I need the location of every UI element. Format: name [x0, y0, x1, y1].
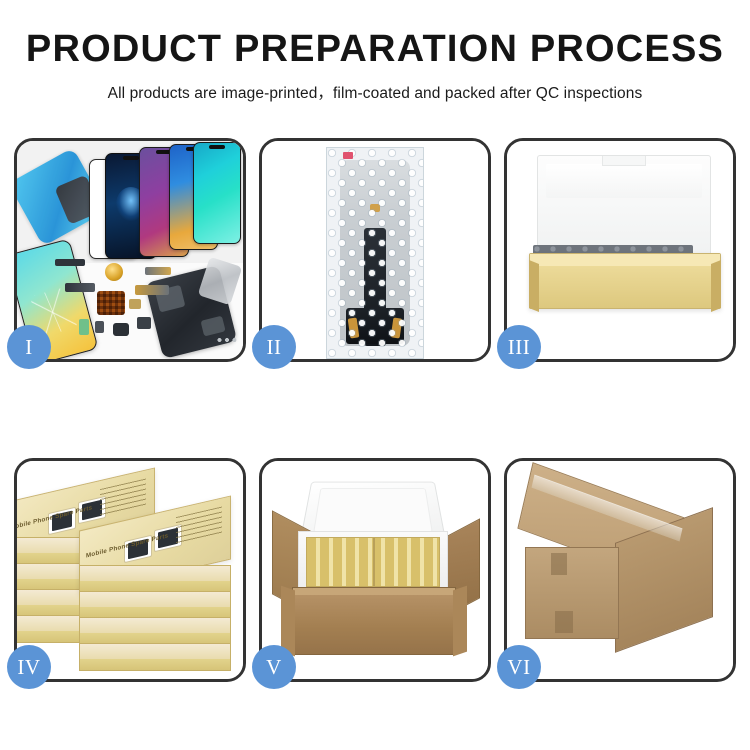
carton-seam — [555, 611, 573, 633]
bubble-wrap-bag — [326, 147, 424, 359]
battery-connector-icon — [79, 319, 89, 335]
step-badge-ii: II — [252, 325, 296, 369]
box-side-right — [711, 260, 721, 312]
step-image-bubble-wrapped-screen — [262, 141, 488, 359]
chip-array-icon — [97, 291, 125, 315]
box-face — [80, 618, 230, 633]
retail-box — [79, 591, 231, 619]
step-panel-ii: II — [259, 138, 491, 362]
box-lip — [530, 254, 720, 266]
step-panel-iv: Mobile Phone Spare Parts Mobile Phone Sp… — [14, 458, 246, 682]
page-subtitle: All products are image-printed，film-coat… — [0, 81, 750, 103]
step-image-stacked-boxes: Mobile Phone Spare Parts Mobile Phone Sp… — [17, 461, 243, 679]
step-badge-i: I — [7, 325, 51, 369]
box-face — [80, 644, 230, 659]
vibration-motor-icon — [105, 263, 123, 281]
gold-boxes-row-icon — [306, 537, 440, 587]
box-face — [80, 566, 230, 581]
gold-contact-icon — [129, 299, 141, 309]
carton-seam — [551, 553, 567, 575]
retail-box — [79, 617, 231, 645]
header: PRODUCT PREPARATION PROCESS All products… — [0, 0, 750, 103]
step-image-foam-inner-box — [507, 141, 733, 359]
small-component-icon — [95, 321, 104, 333]
step-image-phone-parts — [17, 141, 243, 359]
step-badge-vi: VI — [497, 645, 541, 689]
step-badge-v: V — [252, 645, 296, 689]
carton-body-left — [281, 586, 295, 657]
bubble-texture — [327, 148, 423, 358]
step-panel-i: I — [14, 138, 246, 362]
page-title: PRODUCT PREPARATION PROCESS — [0, 30, 750, 70]
box-side-left — [529, 260, 539, 312]
step-panel-iii: III — [504, 138, 736, 362]
step-image-sealed-carton — [507, 461, 733, 679]
lcd-screen-teal-icon — [193, 142, 241, 244]
yellow-inner-box-icon — [529, 253, 721, 309]
carton-body — [292, 587, 456, 655]
product-preparation-infographic: PRODUCT PREPARATION PROCESS All products… — [0, 0, 750, 750]
step-badge-iii: III — [497, 325, 541, 369]
step-panel-vi: VI — [504, 458, 736, 682]
tape-end-icon — [676, 469, 718, 511]
speaker-icon — [113, 323, 129, 336]
red-label-icon — [343, 152, 353, 159]
step-badge-iv: IV — [7, 645, 51, 689]
retail-box — [79, 643, 231, 671]
screws-icon — [215, 335, 237, 345]
step-panel-v: V — [259, 458, 491, 682]
component-bar-icon — [55, 259, 85, 266]
small-component-icon — [137, 317, 151, 329]
flex-cable-icon — [65, 283, 95, 292]
process-steps-grid: I II — [14, 138, 736, 682]
box-spec-lines — [176, 507, 222, 546]
flex-cable-icon — [135, 285, 169, 295]
notch-icon — [123, 156, 139, 160]
step-image-carton-loading — [262, 461, 488, 679]
box-face — [80, 592, 230, 607]
box-spec-lines — [100, 479, 146, 518]
notch-icon — [209, 145, 225, 149]
flex-cable-icon — [145, 267, 171, 275]
retail-box — [79, 565, 231, 593]
carton-body-right — [453, 586, 467, 657]
